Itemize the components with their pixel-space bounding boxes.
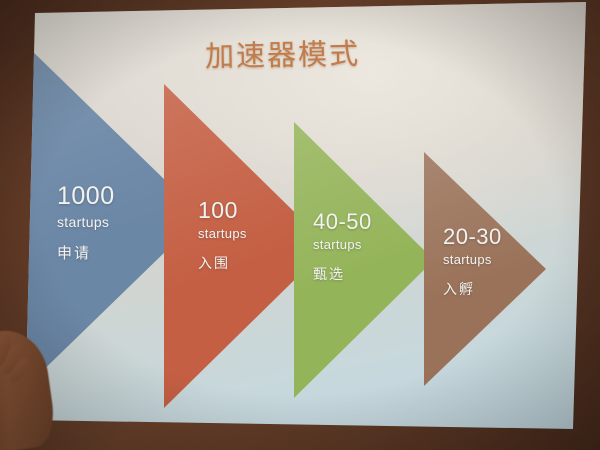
stage-count-4: 20-30 bbox=[443, 225, 502, 248]
funnel-stage-label-1: 1000 startups 申请 bbox=[57, 183, 115, 272]
funnel-diagram: 1000 startups 申请 100 startups 入围 40-50 s… bbox=[0, 0, 600, 450]
stage-count-3: 40-50 bbox=[313, 210, 372, 233]
stage-count-2: 100 bbox=[198, 198, 247, 222]
stage-name-4: 入孵 bbox=[443, 273, 502, 307]
projected-slide-photo: 加速器模式 1000 startups 申请 100 startups 入围 4… bbox=[0, 0, 600, 450]
funnel-stage-label-3: 40-50 startups 甄选 bbox=[313, 210, 372, 291]
presentation-slide: 加速器模式 1000 startups 申请 100 startups 入围 4… bbox=[0, 0, 600, 450]
stage-unit-3: startups bbox=[313, 233, 372, 258]
funnel-stage-label-2: 100 startups 入围 bbox=[198, 198, 247, 280]
stage-count-1: 1000 bbox=[57, 183, 115, 209]
stage-unit-4: startups bbox=[443, 248, 502, 273]
funnel-stage-label-4: 20-30 startups 入孵 bbox=[443, 225, 502, 306]
stage-name-3: 甄选 bbox=[313, 258, 372, 292]
stage-name-1: 申请 bbox=[57, 236, 115, 272]
stage-unit-1: startups bbox=[57, 209, 115, 236]
stage-name-2: 入围 bbox=[198, 247, 247, 281]
stage-unit-2: startups bbox=[198, 222, 247, 247]
